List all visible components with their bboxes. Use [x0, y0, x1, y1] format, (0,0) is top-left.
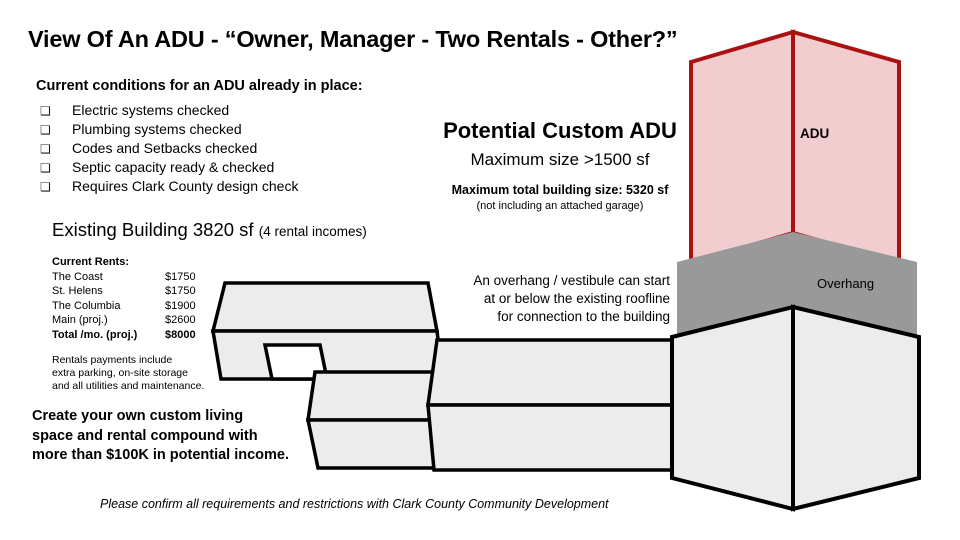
income-callout-line2: space and rental compound with: [32, 427, 289, 447]
conditions-heading: Current conditions for an ADU already in…: [36, 78, 363, 94]
checkbox-square-icon: ❑: [40, 161, 72, 175]
max-total-building-size: Maximum total building size: 5320 sf: [402, 183, 718, 197]
rent-name: The Columbia: [52, 299, 165, 314]
list-item-label: Electric systems checked: [72, 102, 229, 118]
checkbox-square-icon: ❑: [40, 180, 72, 194]
main-building-right-face: [793, 307, 919, 509]
overhang-description-line2: at or below the existing roofline: [448, 290, 670, 308]
rent-name: St. Helens: [52, 284, 165, 299]
potential-adu-subheading: Maximum size >1500 sf: [412, 150, 708, 170]
right-wing-roof: [428, 340, 676, 405]
checkbox-square-icon: ❑: [40, 142, 72, 156]
rent-amount: $1750: [165, 284, 227, 299]
rent-amount: $2600: [165, 313, 227, 328]
conditions-list: ❑ Electric systems checked ❑ Plumbing sy…: [40, 102, 298, 197]
list-item: ❑ Plumbing systems checked: [40, 121, 298, 140]
adu-left-face: [691, 32, 793, 263]
list-item-label: Plumbing systems checked: [72, 121, 242, 137]
rents-note-line3: and all utilities and maintenance.: [52, 380, 252, 393]
income-callout-line3: more than $100K in potential income.: [32, 446, 289, 466]
overhang-description-line1: An overhang / vestibule can start: [448, 272, 670, 290]
income-callout-line1: Create your own custom living: [32, 407, 289, 427]
list-item: ❑ Electric systems checked: [40, 102, 298, 121]
page-title: View Of An ADU - “Owner, Manager - Two R…: [28, 26, 678, 53]
checkbox-square-icon: ❑: [40, 104, 72, 118]
list-item: ❑ Codes and Setbacks checked: [40, 140, 298, 159]
rents-note-line2: extra parking, on-site storage: [52, 367, 252, 380]
right-wing-wall: [428, 405, 676, 470]
current-rents-panel: Current Rents: The Coast $1750 St. Helen…: [52, 255, 252, 393]
table-row: St. Helens $1750: [52, 284, 227, 299]
potential-adu-heading: Potential Custom ADU: [412, 118, 708, 144]
checkbox-square-icon: ❑: [40, 123, 72, 137]
table-row-total: Total /mo. (proj.) $8000: [52, 328, 227, 343]
income-callout: Create your own custom living space and …: [32, 407, 289, 466]
rent-total-name: Total /mo. (proj.): [52, 328, 165, 343]
adu-right-face: [793, 32, 899, 263]
rent-amount: $1900: [165, 299, 227, 314]
list-item-label: Septic capacity ready & checked: [72, 159, 274, 175]
overhang-diagram-label: Overhang: [817, 276, 874, 291]
table-row: Main (proj.) $2600: [52, 313, 227, 328]
rent-name: Main (proj.): [52, 313, 165, 328]
rent-total-amount: $8000: [165, 328, 227, 343]
existing-building-sub: (4 rental incomes): [259, 224, 367, 239]
footer-disclaimer: Please confirm all requirements and rest…: [100, 497, 609, 511]
adu-diagram-label: ADU: [800, 126, 829, 141]
slide-canvas: View Of An ADU - “Owner, Manager - Two R…: [0, 0, 960, 540]
main-building-left-face: [672, 307, 793, 509]
list-item: ❑ Requires Clark County design check: [40, 178, 298, 197]
list-item-label: Codes and Setbacks checked: [72, 140, 257, 156]
table-row: The Coast $1750: [52, 270, 227, 285]
existing-building-main: Existing Building 3820 sf: [52, 219, 254, 240]
rents-note: Rentals payments include extra parking, …: [52, 354, 252, 393]
current-rents-table: The Coast $1750 St. Helens $1750 The Col…: [52, 270, 227, 343]
list-item: ❑ Septic capacity ready & checked: [40, 159, 298, 178]
rent-amount: $1750: [165, 270, 227, 285]
existing-building-heading: Existing Building 3820 sf (4 rental inco…: [52, 219, 367, 241]
overhang-description: An overhang / vestibule can start at or …: [448, 272, 670, 326]
table-row: The Columbia $1900: [52, 299, 227, 314]
garage-exclusion-note: (not including an attached garage): [402, 200, 718, 212]
rents-note-line1: Rentals payments include: [52, 354, 252, 367]
list-item-label: Requires Clark County design check: [72, 178, 298, 194]
overhang-description-line3: for connection to the building: [448, 308, 670, 326]
rent-name: The Coast: [52, 270, 165, 285]
current-rents-title: Current Rents:: [52, 255, 252, 270]
